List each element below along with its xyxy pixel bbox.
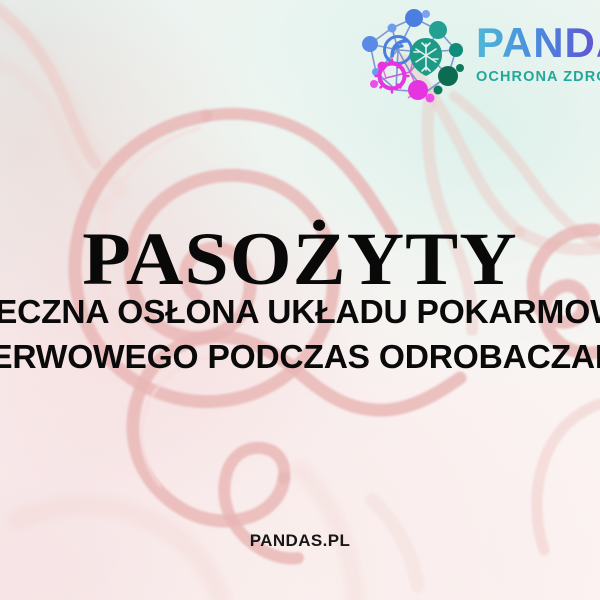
subtitle-line-1: SKUTECZNA OSŁONA UKŁADU POKARMOWEGO <box>0 296 600 330</box>
page-title: PASOŻYTY <box>0 222 600 297</box>
brain-network-icon <box>352 6 472 104</box>
brand-name: PANDAS <box>476 22 600 64</box>
brand-wordmark: PANDAS OCHRONA ZDROWIA <box>476 22 600 85</box>
snowflake-icon <box>410 38 442 76</box>
brand-tagline: OCHRONA ZDROWIA <box>476 69 600 85</box>
brand-logo[interactable]: PANDAS OCHRONA ZDROWIA <box>352 4 600 104</box>
subtitle-line-2: I NERWOWEGO PODCZAS ODROBACZANIA <box>0 341 600 375</box>
poster-canvas: PANDAS OCHRONA ZDROWIA PASOŻYTY SKUTECZN… <box>0 0 600 600</box>
website-url: PANDAS.PL <box>0 531 600 551</box>
